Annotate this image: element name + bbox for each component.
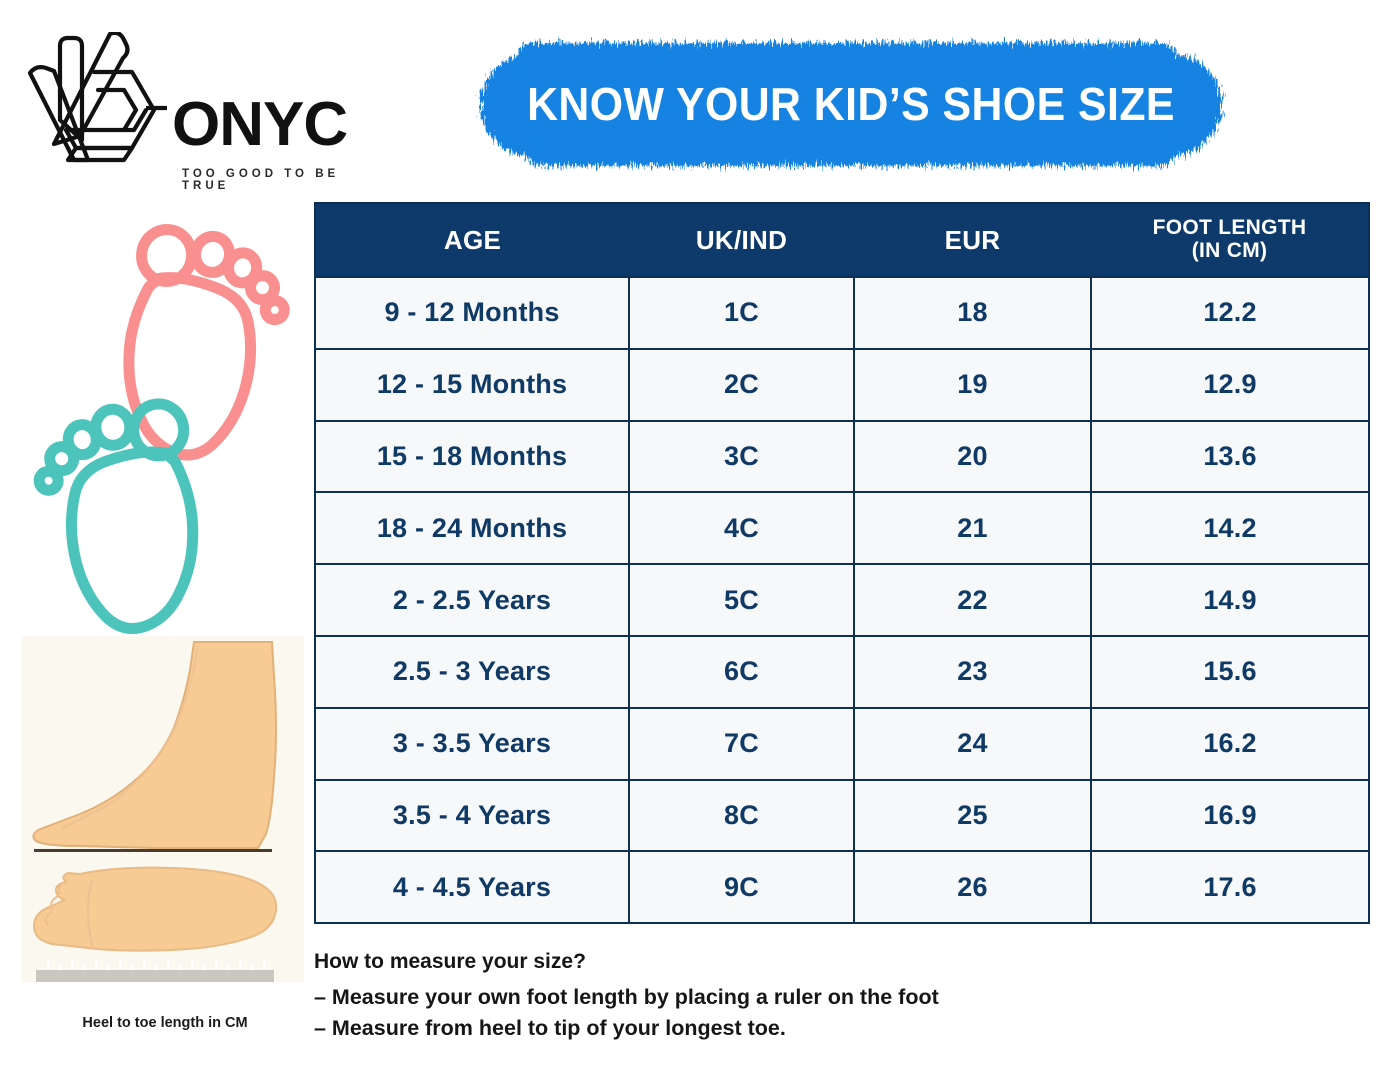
table-row: 9 - 12 Months 1C 18 12.2 [315,277,1369,349]
cell-uk-ind: 1C [629,277,854,349]
cell-foot-length: 13.6 [1091,421,1369,493]
cell-foot-length: 16.2 [1091,708,1369,780]
foot-top-view-icon [34,868,276,951]
table-row: 3.5 - 4 Years 8C 25 16.9 [315,780,1369,852]
table-row: 3 - 3.5 Years 7C 24 16.2 [315,708,1369,780]
shoe-size-table: AGE UK/IND EUR FOOT LENGTH (IN CM) 9 - 1… [314,202,1370,924]
cell-age: 2.5 - 3 Years [315,636,629,708]
table-body: 9 - 12 Months 1C 18 12.2 12 - 15 Months … [315,277,1369,923]
cell-foot-length: 16.9 [1091,780,1369,852]
cell-uk-ind: 7C [629,708,854,780]
brand-wordmark: ONYC [172,94,347,156]
column-header-foot-length: FOOT LENGTH (IN CM) [1091,203,1369,277]
cell-uk-ind: 8C [629,780,854,852]
cell-age: 9 - 12 Months [315,277,629,349]
foot-side-view-illustration [22,636,304,864]
cell-foot-length: 14.9 [1091,564,1369,636]
column-header-age: AGE [315,203,629,277]
cell-eur: 21 [854,492,1091,564]
table-row: 4 - 4.5 Years 9C 26 17.6 [315,851,1369,923]
cell-age: 2 - 2.5 Years [315,564,629,636]
cell-uk-ind: 9C [629,851,854,923]
cell-eur: 25 [854,780,1091,852]
page-title: KNOW YOUR KID’S SHOE SIZE [484,34,1219,174]
cell-age: 12 - 15 Months [315,349,629,421]
instructions-heading: How to measure your size? [314,950,1314,974]
cell-age: 4 - 4.5 Years [315,851,629,923]
cell-age: 3 - 3.5 Years [315,708,629,780]
baby-footprint-teal-icon [31,400,211,639]
cell-eur: 23 [854,636,1091,708]
foot-length-label-line2: (IN CM) [1192,239,1268,262]
cell-uk-ind: 5C [629,564,854,636]
cell-uk-ind: 2C [629,349,854,421]
cell-foot-length: 12.2 [1091,277,1369,349]
cell-eur: 19 [854,349,1091,421]
brand-tagline: TOO GOOD TO BE TRUE [182,168,374,192]
measure-instructions: How to measure your size? – Measure your… [314,950,1314,1044]
cell-foot-length: 15.6 [1091,636,1369,708]
table-header: AGE UK/IND EUR FOOT LENGTH (IN CM) [315,203,1369,277]
table-row: 2 - 2.5 Years 5C 22 14.9 [315,564,1369,636]
column-header-eur: EUR [854,203,1091,277]
cell-uk-ind: 3C [629,421,854,493]
cell-uk-ind: 4C [629,492,854,564]
onyc-monogram-icon [24,32,169,170]
column-header-uk-ind: UK/IND [629,203,854,277]
ruler-caption: Heel to toe length in CM [20,1015,310,1031]
table-row: 18 - 24 Months 4C 21 14.2 [315,492,1369,564]
cell-age: 18 - 24 Months [315,492,629,564]
table-row: 15 - 18 Months 3C 20 13.6 [315,421,1369,493]
cell-eur: 24 [854,708,1091,780]
table-row: 12 - 15 Months 2C 19 12.9 [315,349,1369,421]
table-row: 2.5 - 3 Years 6C 23 15.6 [315,636,1369,708]
foot-top-view-illustration [22,852,304,982]
brand-logo: ONYC TOO GOOD TO BE TRUE [24,32,374,172]
instruction-line-2: – Measure from heel to tip of your longe… [314,1013,1314,1044]
cell-eur: 26 [854,851,1091,923]
baby-footprints-illustration [20,208,305,643]
foot-length-label-line1: FOOT LENGTH [1153,216,1307,239]
cell-foot-length: 14.2 [1091,492,1369,564]
cell-uk-ind: 6C [629,636,854,708]
cell-eur: 18 [854,277,1091,349]
page-title-banner: KNOW YOUR KID’S SHOE SIZE [456,34,1246,174]
instruction-line-1: – Measure your own foot length by placin… [314,982,1314,1013]
table-header-row: AGE UK/IND EUR FOOT LENGTH (IN CM) [315,203,1369,277]
cell-foot-length: 17.6 [1091,851,1369,923]
cell-age: 3.5 - 4 Years [315,780,629,852]
cell-foot-length: 12.9 [1091,349,1369,421]
cell-age: 15 - 18 Months [315,421,629,493]
cell-eur: 20 [854,421,1091,493]
cell-eur: 22 [854,564,1091,636]
